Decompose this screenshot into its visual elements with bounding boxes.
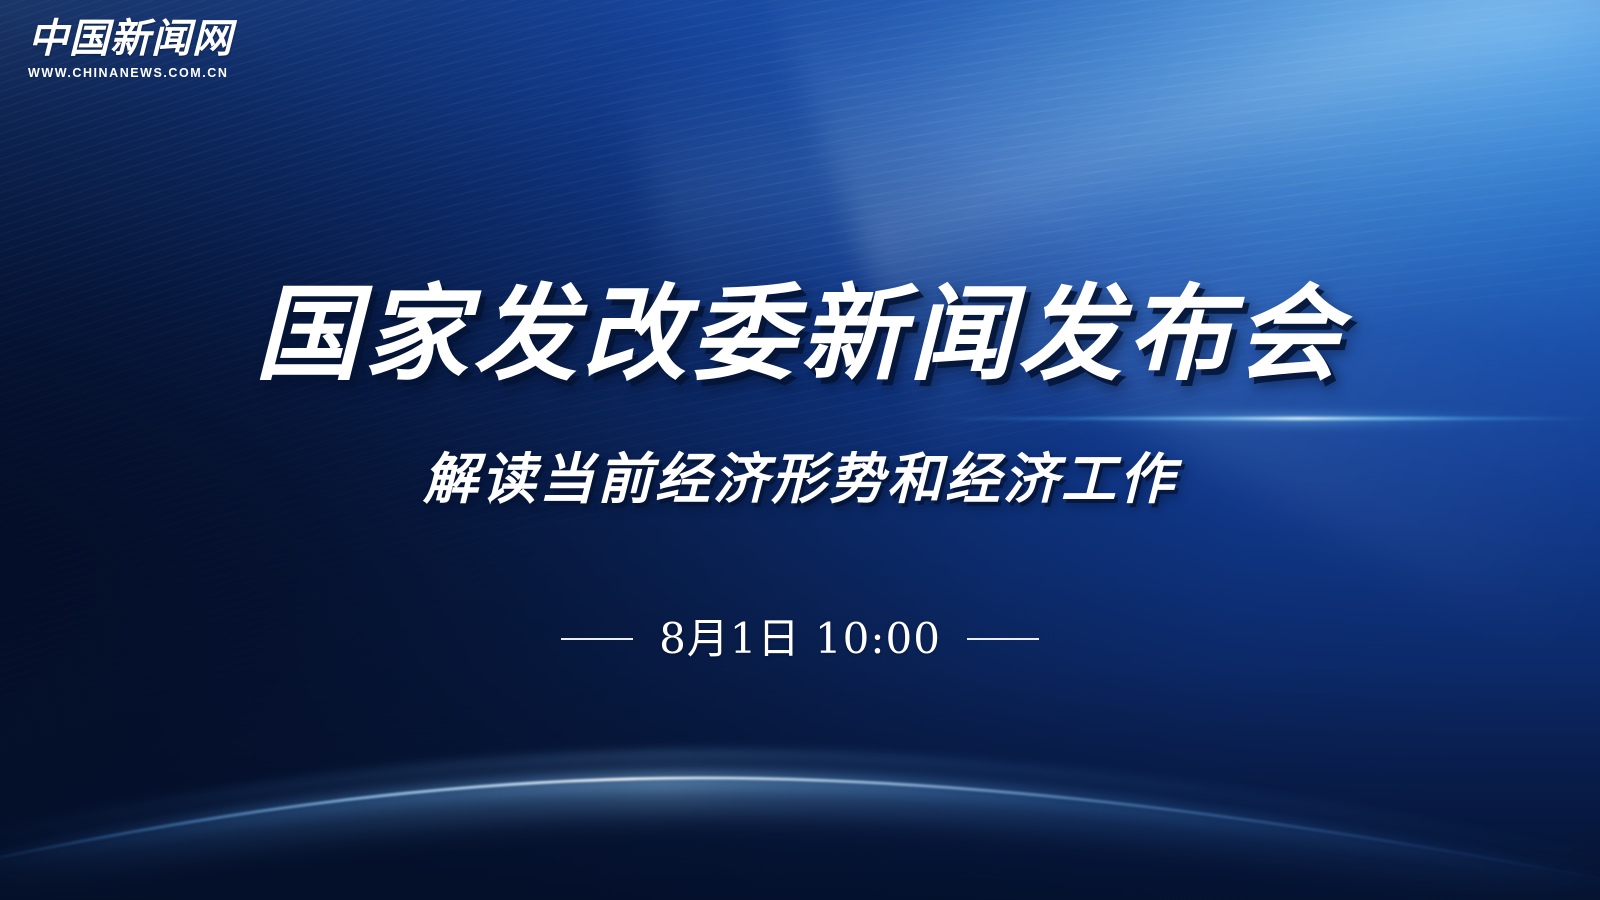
title-light-streak-core	[930, 417, 1590, 420]
logo-website-url: WWW.CHINANEWS.COM.CN	[28, 66, 228, 80]
main-title: 国家发改委新闻发布会	[0, 274, 1600, 394]
sub-title: 解读当前经济形势和经济工作	[0, 444, 1600, 514]
schedule-row: 8月1日 10:00	[0, 612, 1600, 666]
rule-right	[967, 638, 1039, 640]
rule-left	[561, 638, 633, 640]
poster-canvas: 中国新闻网 WWW.CHINANEWS.COM.CN 国家发改委新闻发布会 解读…	[0, 0, 1600, 900]
title-light-streak-halo	[930, 408, 1590, 430]
light-beam-primary	[754, 0, 1600, 481]
schedule-datetime: 8月1日 10:00	[659, 612, 941, 666]
title-light-streak	[930, 406, 1590, 432]
logo-wordmark-cn: 中国新闻网	[28, 16, 228, 62]
chinanews-logo[interactable]: 中国新闻网 WWW.CHINANEWS.COM.CN	[28, 16, 228, 80]
diagonal-stripes-top-left	[0, 0, 1262, 810]
